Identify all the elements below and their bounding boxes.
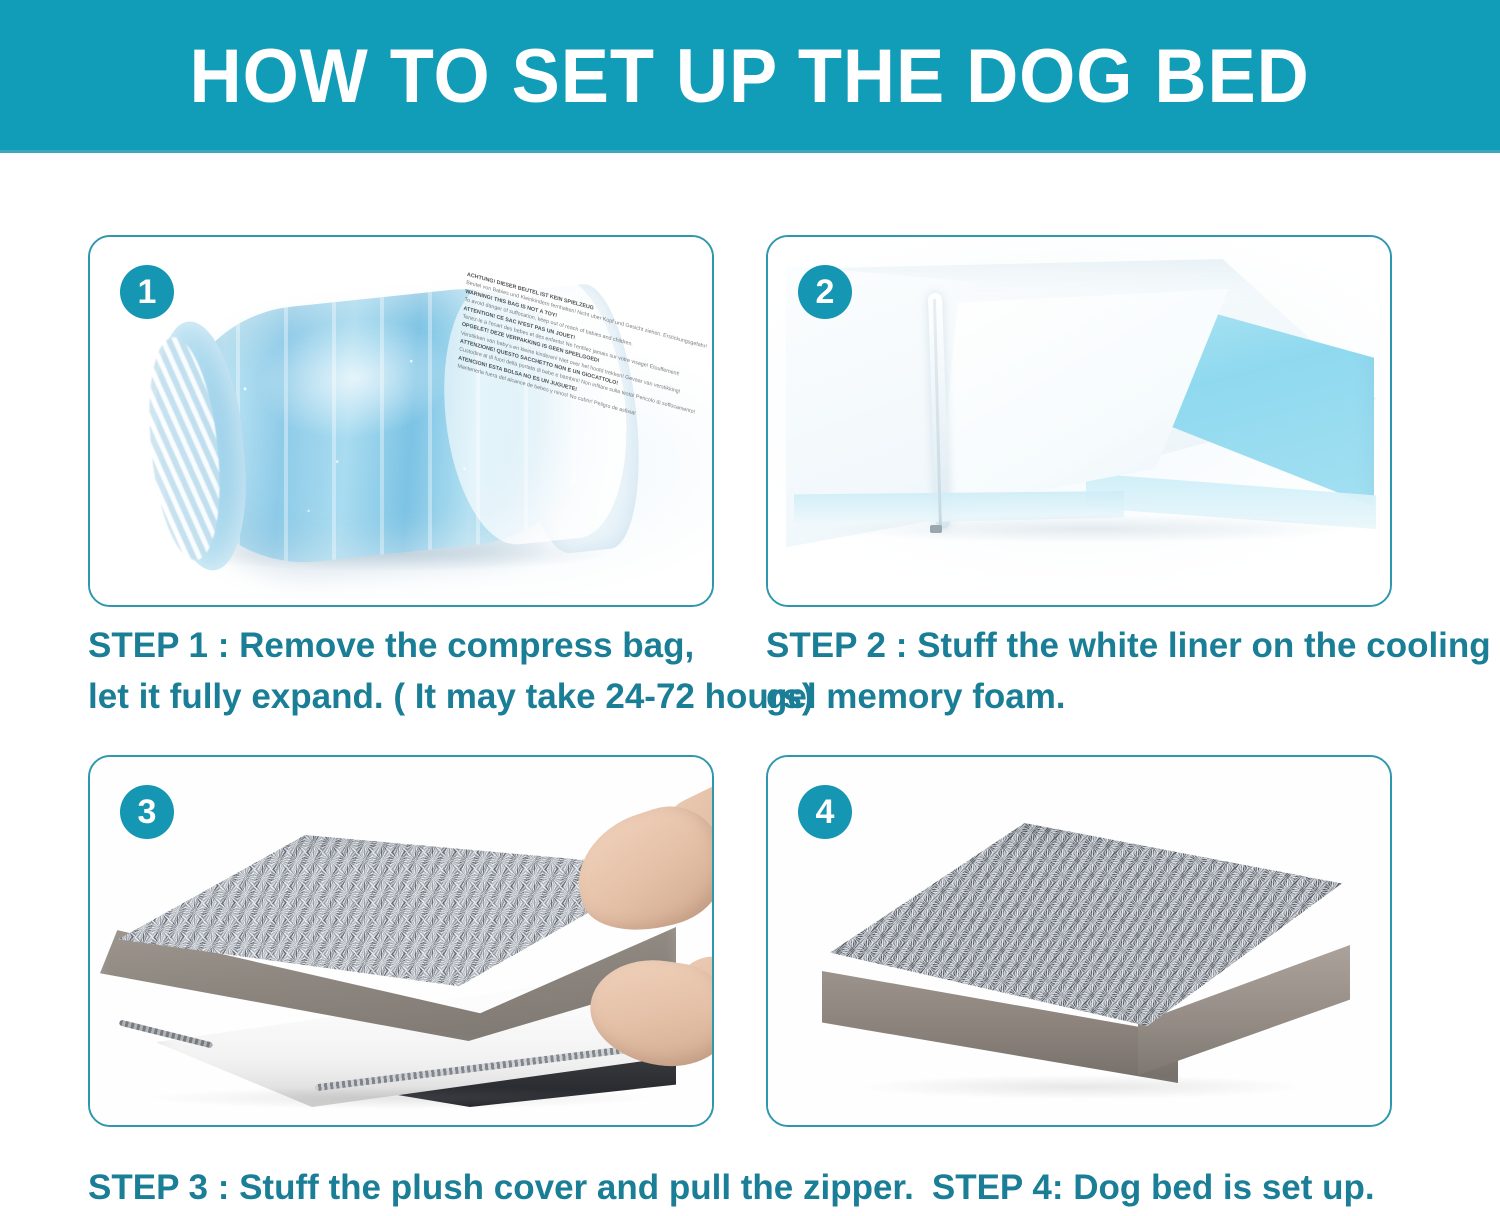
caption-line: STEP 2 : Stuff the white liner on the co…: [766, 621, 1392, 672]
caption-line: STEP 4: Dog bed is set up.: [932, 1163, 1375, 1214]
step-caption-2: STEP 2 : Stuff the white liner on the co…: [766, 621, 1392, 723]
header-banner: HOW TO SET UP THE DOG BED: [0, 0, 1500, 153]
step-3-photo: [90, 757, 712, 1125]
step-block-1: ACHTUNG! DIESER BEUTEL IST KEIN SPIELZEU…: [88, 235, 714, 723]
steps-grid: ACHTUNG! DIESER BEUTEL IST KEIN SPIELZEU…: [0, 153, 1500, 1216]
step-block-3: 3: [88, 755, 714, 1127]
cover-stuffing-illustration: [100, 835, 700, 1105]
bed-shadow: [862, 1075, 1302, 1099]
step-badge-2: 2: [798, 265, 852, 319]
caption-line: gel memory foam.: [766, 672, 1392, 723]
step-2-photo: [768, 237, 1390, 605]
caption-line: STEP 3 : Stuff the plush cover and pull …: [88, 1163, 914, 1214]
step-caption-4: STEP 4: Dog bed is set up.: [932, 1163, 1375, 1214]
caption-line: STEP 1 : Remove the compress bag,: [88, 621, 714, 672]
caption-line: let it fully expand. ( It may take 24-72…: [88, 672, 714, 723]
step-card-2: 2: [766, 235, 1392, 607]
step-caption-1: STEP 1 : Remove the compress bag, let it…: [88, 621, 714, 723]
foam-and-liner-illustration: [786, 259, 1376, 559]
step-1-photo: ACHTUNG! DIESER BEUTEL IST KEIN SPIELZEU…: [90, 237, 712, 605]
step-card-4: 4: [766, 755, 1392, 1127]
page-title: HOW TO SET UP THE DOG BED: [190, 39, 1310, 115]
bottom-caption-row: STEP 3 : Stuff the plush cover and pull …: [88, 1163, 1448, 1214]
step-card-1: ACHTUNG! DIESER BEUTEL IST KEIN SPIELZEU…: [88, 235, 714, 607]
step-caption-3: STEP 3 : Stuff the plush cover and pull …: [88, 1163, 914, 1214]
bed-shadow: [150, 1087, 650, 1109]
step-badge-4: 4: [798, 785, 852, 839]
step-card-3: 3: [88, 755, 714, 1127]
step-badge-1: 1: [120, 265, 174, 319]
compressed-roll-illustration: ACHTUNG! DIESER BEUTEL IST KEIN SPIELZEU…: [136, 247, 685, 600]
step-block-2: 2 STEP 2 : Stuff the white liner on the …: [766, 235, 1392, 723]
finished-bed-illustration: [822, 823, 1352, 1093]
step-4-photo: [768, 757, 1390, 1125]
step-badge-3: 3: [120, 785, 174, 839]
step-block-4: 4: [766, 755, 1392, 1127]
slab-shadow: [826, 515, 1356, 543]
